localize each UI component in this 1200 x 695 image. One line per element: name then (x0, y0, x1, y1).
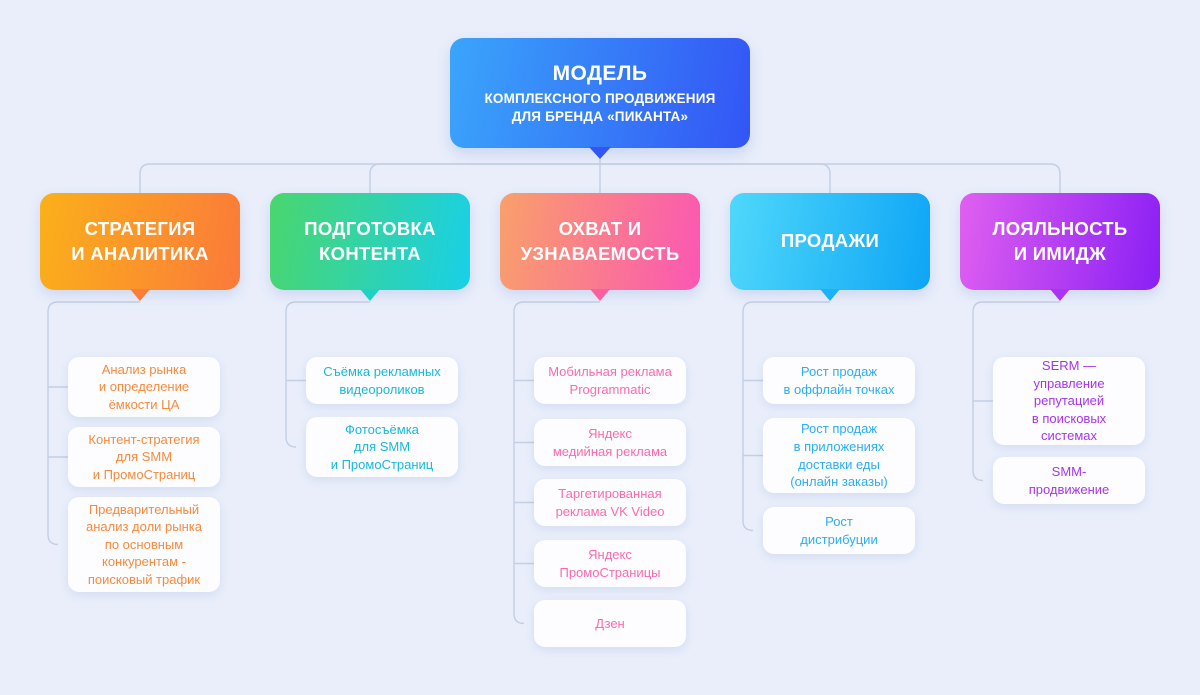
leaf-line-loyalty-1-1: продвижение (1029, 481, 1110, 499)
leaf-text-strategy-2: Предварительныйанализ доли рынкапо основ… (86, 501, 202, 589)
leaf-text-reach-2: Таргетированнаяреклама VK Video (556, 485, 665, 520)
column-tail-arrow-content (360, 289, 380, 301)
leaf-line-content-1-2: и ПромоСтраниц (331, 456, 434, 474)
leaf-line-strategy-1-1: для SMM (88, 448, 199, 466)
column-header-line1-loyalty: ЛОЯЛЬНОСТЬ (993, 217, 1128, 241)
leaf-text-reach-3: ЯндексПромоСтраницы (559, 546, 660, 581)
leaf-line-content-0-1: видеороликов (323, 381, 441, 399)
leaf-line-reach-3-1: ПромоСтраницы (559, 564, 660, 582)
leaf-card-reach-2[interactable]: Таргетированнаяреклама VK Video (534, 479, 686, 526)
leaf-line-loyalty-0-1: управление (1032, 375, 1106, 393)
column-header-loyalty[interactable]: ЛОЯЛЬНОСТЬИ ИМИДЖ (960, 193, 1160, 290)
leaf-card-loyalty-1[interactable]: SMM-продвижение (993, 457, 1145, 504)
leaf-line-strategy-2-2: по основным (86, 536, 202, 554)
leaf-text-sales-0: Рост продажв оффлайн точках (784, 363, 895, 398)
leaf-card-sales-2[interactable]: Ростдистрибуции (763, 507, 915, 554)
leaf-line-sales-2-0: Рост (800, 513, 877, 531)
leaf-line-reach-1-0: Яндекс (553, 425, 667, 443)
leaf-line-reach-0-0: Мобильная реклама (548, 363, 672, 381)
leaf-line-strategy-1-0: Контент-стратегия (88, 431, 199, 449)
leaf-line-strategy-0-2: ёмкости ЦА (99, 396, 189, 414)
leaf-line-loyalty-0-0: SERM — (1032, 357, 1106, 375)
column-tail-arrow-loyalty (1050, 289, 1070, 301)
leaf-line-sales-0-1: в оффлайн точках (784, 381, 895, 399)
leaf-line-reach-0-1: Programmatic (548, 381, 672, 399)
leaf-line-strategy-2-3: конкурентам - (86, 553, 202, 571)
bus-branch-strategy (140, 164, 600, 193)
leaf-text-strategy-0: Анализ рынкаи определениеёмкости ЦА (99, 361, 189, 414)
leaf-line-strategy-1-2: и ПромоСтраниц (88, 466, 199, 484)
leaf-card-sales-1[interactable]: Рост продажв приложенияхдоставки еды(онл… (763, 418, 915, 493)
leaf-line-strategy-2-0: Предварительный (86, 501, 202, 519)
leaf-text-loyalty-0: SERM —управлениерепутациейв поисковыхсис… (1032, 357, 1106, 445)
column-header-line2-reach: УЗНАВАЕМОСТЬ (521, 242, 680, 266)
leaf-line-content-1-0: Фотосъёмка (331, 421, 434, 439)
column-tail-arrow-reach (590, 289, 610, 301)
leaf-line-content-1-1: для SMM (331, 438, 434, 456)
leaf-line-loyalty-0-4: системах (1032, 427, 1106, 445)
root-subtitle-line1: КОМПЛЕКСНОГО ПРОДВИЖЕНИЯ (484, 90, 715, 108)
column-header-line1-reach: ОХВАТ И (559, 217, 642, 241)
leaf-text-reach-4: Дзен (595, 615, 624, 633)
leaf-card-strategy-1[interactable]: Контент-стратегиядля SMMи ПромоСтраниц (68, 427, 220, 487)
leaf-line-loyalty-0-3: в поисковых (1032, 410, 1106, 428)
leaf-text-content-1: Фотосъёмкадля SMMи ПромоСтраниц (331, 421, 434, 474)
root-subtitle-line2: ДЛЯ БРЕНДА «ПИКАНТА» (512, 108, 688, 126)
leaf-card-reach-3[interactable]: ЯндексПромоСтраницы (534, 540, 686, 587)
leaf-line-reach-4-0: Дзен (595, 615, 624, 633)
leaf-text-loyalty-1: SMM-продвижение (1029, 463, 1110, 498)
column-tail-arrow-sales (820, 289, 840, 301)
leaf-line-reach-2-1: реклама VK Video (556, 503, 665, 521)
leaf-card-strategy-0[interactable]: Анализ рынкаи определениеёмкости ЦА (68, 357, 220, 417)
diagram-canvas: МОДЕЛЬ КОМПЛЕКСНОГО ПРОДВИЖЕНИЯ ДЛЯ БРЕН… (0, 0, 1200, 695)
leaf-text-sales-2: Ростдистрибуции (800, 513, 877, 548)
bus-branch-loyalty (600, 164, 1060, 193)
leaf-line-loyalty-1-0: SMM- (1029, 463, 1110, 481)
leaf-text-reach-0: Мобильная рекламаProgrammatic (548, 363, 672, 398)
leaf-line-content-0-0: Съёмка рекламных (323, 363, 441, 381)
leaf-line-sales-0-0: Рост продаж (784, 363, 895, 381)
column-header-line1-strategy: СТРАТЕГИЯ (85, 217, 196, 241)
leaf-card-content-0[interactable]: Съёмка рекламныхвидеороликов (306, 357, 458, 404)
leaf-card-strategy-2[interactable]: Предварительныйанализ доли рынкапо основ… (68, 497, 220, 592)
column-header-strategy[interactable]: СТРАТЕГИЯИ АНАЛИТИКА (40, 193, 240, 290)
column-header-line2-strategy: И АНАЛИТИКА (71, 242, 209, 266)
root-card: МОДЕЛЬ КОМПЛЕКСНОГО ПРОДВИЖЕНИЯ ДЛЯ БРЕН… (450, 38, 750, 148)
leaf-line-sales-1-2: доставки еды (790, 456, 888, 474)
column-header-line1-content: ПОДГОТОВКА (304, 217, 436, 241)
column-header-reach[interactable]: ОХВАТ ИУЗНАВАЕМОСТЬ (500, 193, 700, 290)
column-header-line2-content: КОНТЕНТА (319, 242, 421, 266)
leaf-line-sales-2-1: дистрибуции (800, 531, 877, 549)
column-header-content[interactable]: ПОДГОТОВКАКОНТЕНТА (270, 193, 470, 290)
leaf-line-strategy-2-4: поисковый трафик (86, 571, 202, 589)
leaf-line-strategy-0-0: Анализ рынка (99, 361, 189, 379)
bus-branch-sales (600, 164, 830, 193)
column-tail-arrow-strategy (130, 289, 150, 301)
leaf-line-strategy-0-1: и определение (99, 378, 189, 396)
leaf-line-sales-1-1: в приложениях (790, 438, 888, 456)
root-title: МОДЕЛЬ (553, 61, 648, 86)
leaf-card-loyalty-0[interactable]: SERM —управлениерепутациейв поисковыхсис… (993, 357, 1145, 445)
root-tail-arrow (589, 147, 611, 159)
leaf-line-reach-2-0: Таргетированная (556, 485, 665, 503)
column-header-line1-sales: ПРОДАЖИ (781, 229, 879, 253)
leaf-line-reach-1-1: медийная реклама (553, 443, 667, 461)
leaf-card-reach-4[interactable]: Дзен (534, 600, 686, 647)
leaf-text-strategy-1: Контент-стратегиядля SMMи ПромоСтраниц (88, 431, 199, 484)
leaf-card-content-1[interactable]: Фотосъёмкадля SMMи ПромоСтраниц (306, 417, 458, 477)
leaf-card-reach-0[interactable]: Мобильная рекламаProgrammatic (534, 357, 686, 404)
leaf-line-sales-1-3: (онлайн заказы) (790, 473, 888, 491)
leaf-line-reach-3-0: Яндекс (559, 546, 660, 564)
leaf-card-reach-1[interactable]: Яндексмедийная реклама (534, 419, 686, 466)
leaf-text-content-0: Съёмка рекламныхвидеороликов (323, 363, 441, 398)
leaf-line-sales-1-0: Рост продаж (790, 420, 888, 438)
leaf-text-sales-1: Рост продажв приложенияхдоставки еды(онл… (790, 420, 888, 490)
column-header-sales[interactable]: ПРОДАЖИ (730, 193, 930, 290)
column-header-line2-loyalty: И ИМИДЖ (1014, 242, 1106, 266)
leaf-line-loyalty-0-2: репутацией (1032, 392, 1106, 410)
bus-branch-content (370, 164, 600, 193)
sub-spine-sales (743, 302, 830, 531)
leaf-text-reach-1: Яндексмедийная реклама (553, 425, 667, 460)
leaf-line-strategy-2-1: анализ доли рынка (86, 518, 202, 536)
leaf-card-sales-0[interactable]: Рост продажв оффлайн точках (763, 357, 915, 404)
